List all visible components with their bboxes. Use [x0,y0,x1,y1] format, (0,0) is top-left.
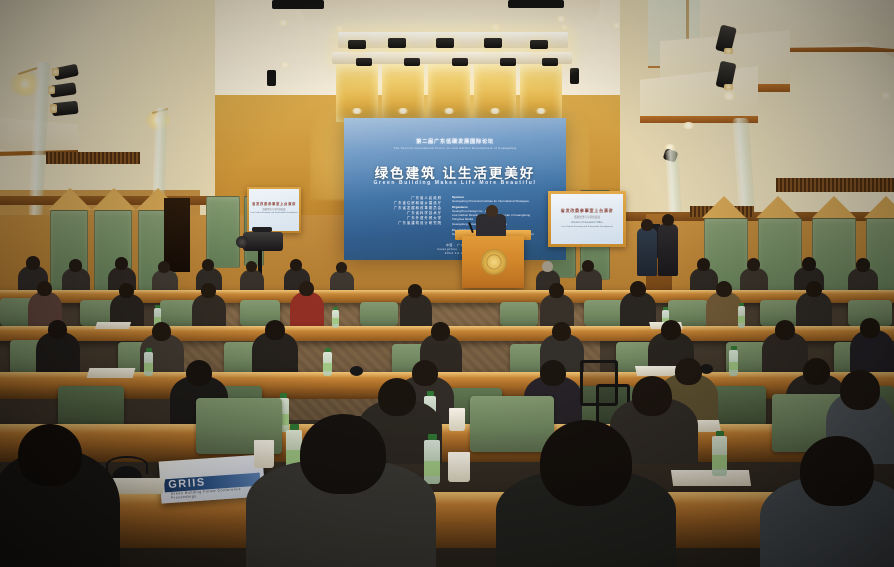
slide-left-line1: 省发改委参事室上台演讲 [249,201,299,206]
attendee-head [201,283,216,298]
attendee-head [152,322,171,341]
attendee-head [549,283,564,298]
downlight-6 [556,16,566,22]
foreground-attendee-left-head [18,424,82,486]
paper-cup-front[interactable] [254,440,274,468]
panel-triangle-r1 [702,196,746,218]
video-camera-lens [236,236,248,248]
truss-spotlight-10 [542,58,558,66]
bottle-cap [427,391,434,396]
attendee-head [69,259,82,272]
bottle-cap [716,431,724,436]
attendee-head [661,320,681,340]
attendee-head [26,256,40,270]
attendee-head [632,376,672,416]
slat-light-2 [397,108,409,114]
banner-header-cn: 第二届广东低碳发展国际论坛 [344,138,566,145]
attendee-head [542,261,553,272]
attendee-head [552,322,571,341]
slide-right-line3: Director of Counselors' Office [551,221,623,224]
attendee-head [431,322,450,341]
standing-attendee-1 [637,228,657,276]
attendee-head [675,358,702,385]
downlight-8 [280,62,290,68]
truss-spotlight-2 [388,38,406,48]
bottle-label [424,461,440,476]
slat-light-1 [351,108,363,114]
handout-front-2[interactable] [671,470,751,486]
ceiling-speaker-left [267,70,276,86]
attendee-head [246,261,257,272]
attendee-head [803,358,830,385]
standing-attendee-2-head [662,214,674,226]
slat-light-3 [443,108,455,114]
ceiling-vent-right [508,0,564,8]
truss-spotlight-5 [530,40,548,49]
slat-light-4 [489,108,501,114]
presenter-body [476,214,506,236]
banner-header-en: The Second International Forum on Low Ca… [344,146,566,150]
conference-hall-photo: 第二届广东低碳发展国际论坛 The Second International F… [0,0,894,567]
attendee-head [716,281,732,297]
attendee-head [630,281,646,297]
bottle-cap [663,307,668,310]
wall-spotlight-lens-1 [52,68,59,76]
attendee-head [202,259,214,271]
bottle-cap [155,305,160,308]
attendee-head [290,259,302,271]
attendee-head [186,360,212,386]
attendee-head [802,257,816,271]
slide-left-line3: Low Carbon Economy and Sustainable Devel… [250,212,298,215]
attendee-head [158,261,170,273]
downlight-3 [278,20,289,26]
standing-attendee-2 [658,224,678,276]
ceiling-vent-left [272,0,324,9]
slat-light-5 [535,108,547,114]
truss-spotlight-3 [436,38,454,48]
panel-triangle-l2 [92,188,136,210]
attendee-head [48,320,67,339]
bottle-cap [731,346,737,350]
attendee-head [115,257,128,270]
foreground-attendee-center-head [300,414,386,494]
attendee-head [856,258,870,272]
balcony-downlight-4 [880,92,892,99]
bottle-cap [290,424,299,430]
paper-cup[interactable] [449,408,465,431]
panel-triangle-r2 [756,196,800,218]
video-camera-handle [252,227,272,232]
foreground-attendee-far-right-head [800,436,874,506]
wall-spotlight-lens-3 [50,104,57,113]
slide-left-line2: 低碳经济与可持续发展 [249,207,299,211]
truss-spotlight-4 [484,38,502,48]
attendee-head [408,284,422,298]
bottle-cap [280,393,287,398]
paper-cup-front-2[interactable] [448,452,470,482]
truss-spotlight-9 [500,58,516,66]
truss-spotlight-7 [404,58,420,66]
projection-screen-right: 省发改委参事室上台演讲 低碳经济与可持续发展 Director of Couns… [551,194,623,244]
truss-spotlight-1 [348,40,366,49]
attendee-head [412,360,438,386]
bottle-cap [739,303,744,306]
attendee-head [840,370,880,410]
attendee-head [806,281,822,297]
seat-chair [58,386,124,426]
attendee-head [378,378,416,416]
bottle-label [712,455,727,469]
attendee-head [119,283,134,298]
bottle-cap [428,434,437,440]
foreground-attendee-right-head [540,420,632,506]
wall-vent-grille-right [776,178,894,192]
banner-org-cn-column: 广东省人民政府 广东省住房和城乡建设厅 广东省发展和改革委员会 广东省科学技术厅… [370,196,442,226]
attendee-head [336,262,347,273]
attendee-head [265,320,285,340]
attendee-head [582,260,594,272]
wall-vent-grille-left [46,152,140,164]
panel-triangle-r3 [812,196,856,218]
balcony-downlight-2 [682,122,695,129]
attendee-head [299,281,314,296]
attendee-head [775,320,795,340]
stage-wood-slats [334,64,572,122]
slide-right-line1: 省发改委参事室上台演讲 [551,208,623,214]
bottle-cap [333,307,338,310]
projection-screen-left: 省发改委参事室上台演讲 低碳经济与可持续发展 Low Carbon Econom… [249,189,299,231]
hanging-spotlight-lens-2 [724,84,733,90]
attendee-head [37,281,52,296]
presenter-head [486,205,498,217]
banner-main-title-en: Green Building Makes Life More Beautiful [344,180,566,186]
downlight-9 [560,25,569,30]
projection-screen-right-frame: 省发改委参事室上台演讲 低碳经济与可持续发展 Director of Couns… [548,191,626,247]
banner-org-en-0: Guangdong Provincial Institute for Inter… [452,199,560,203]
truss-spotlight-8 [452,58,468,66]
banner-org-cn-5: 广东省建筑设计研究院 [370,221,442,226]
right-hanging-lights [712,26,746,100]
headset-band [106,456,148,474]
panel-triangle-l1 [48,188,92,210]
desk-row-4-shine [0,424,894,433]
banner-main-title-cn: 绿色建筑 让生活更美好 [344,162,566,182]
seat-chair [470,396,554,452]
slide-right-line2: 低碳经济与可持续发展 [551,215,623,219]
slide-right-line4: Low Carbon Economy and Sustainable Devel… [553,226,621,229]
water-bottle-front-3[interactable] [712,436,727,476]
attendee-head [747,258,760,271]
attendee-head [540,360,566,386]
water-bottle-front-2[interactable] [424,440,440,484]
left-wall-light-cluster [44,66,90,130]
attendee-head [860,318,880,338]
downlight-5 [490,24,501,30]
panel-triangle-r4 [864,196,894,218]
hanging-spotlight-lens-1 [724,48,733,54]
standing-attendee-1-head [641,219,653,231]
audience-row-4 [0,352,894,426]
attendee-head [697,258,710,271]
truss-spotlight-6 [356,58,372,66]
